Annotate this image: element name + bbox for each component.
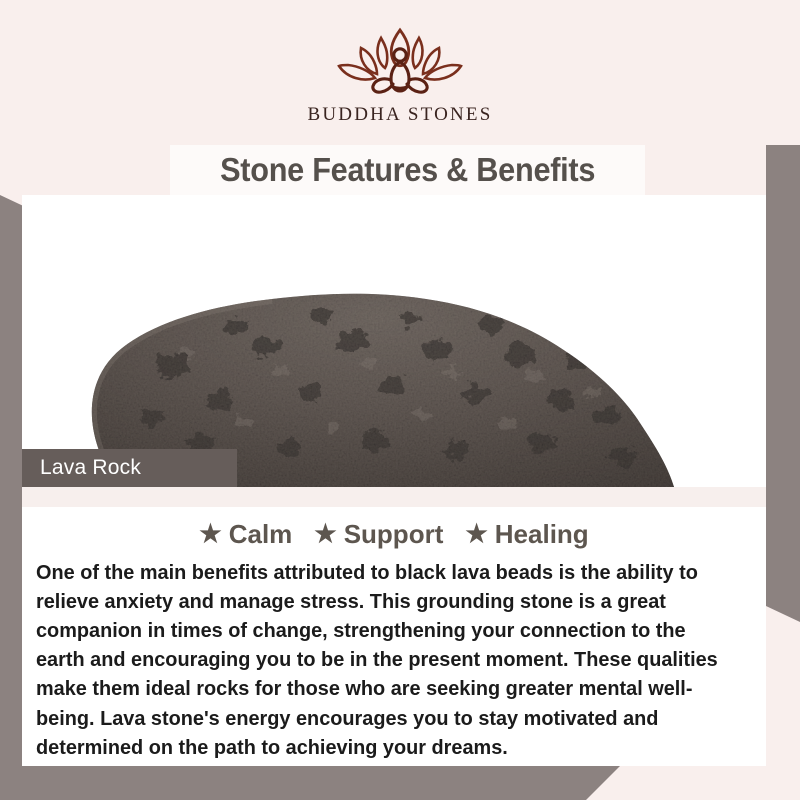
frame-border-bottom (0, 766, 620, 800)
page-title: Stone Features & Benefits (220, 151, 595, 189)
feature-item-calm: ★ Calm (199, 519, 292, 550)
star-icon: ★ (465, 522, 487, 547)
feature-label-healing: Healing (495, 519, 589, 550)
feature-item-healing: ★ Healing (465, 519, 588, 550)
content-panel: ★ Calm ★ Support ★ Healing One of the ma… (22, 507, 766, 766)
feature-label-support: Support (344, 519, 444, 550)
lava-rock-illustration (22, 195, 766, 487)
feature-label-calm: Calm (229, 519, 293, 550)
brand-header: BUDDHA STONES (0, 0, 800, 145)
feature-item-support: ★ Support (314, 519, 443, 550)
lotus-meditation-icon (325, 22, 475, 100)
star-icon: ★ (314, 522, 336, 547)
stone-benefits-card: BUDDHA STONES Stone Features & Benefits (0, 0, 800, 800)
photo-caption-label: Lava Rock (22, 456, 141, 480)
lava-rock-photo (22, 195, 766, 487)
brand-wordmark: BUDDHA STONES (307, 104, 492, 126)
benefits-paragraph: One of the main benefits attributed to b… (36, 558, 731, 762)
feature-list: ★ Calm ★ Support ★ Healing (22, 507, 766, 550)
section-separator (22, 487, 766, 507)
photo-caption-bar: Lava Rock (22, 449, 237, 487)
title-band: Stone Features & Benefits (170, 145, 645, 195)
star-icon: ★ (199, 522, 221, 547)
